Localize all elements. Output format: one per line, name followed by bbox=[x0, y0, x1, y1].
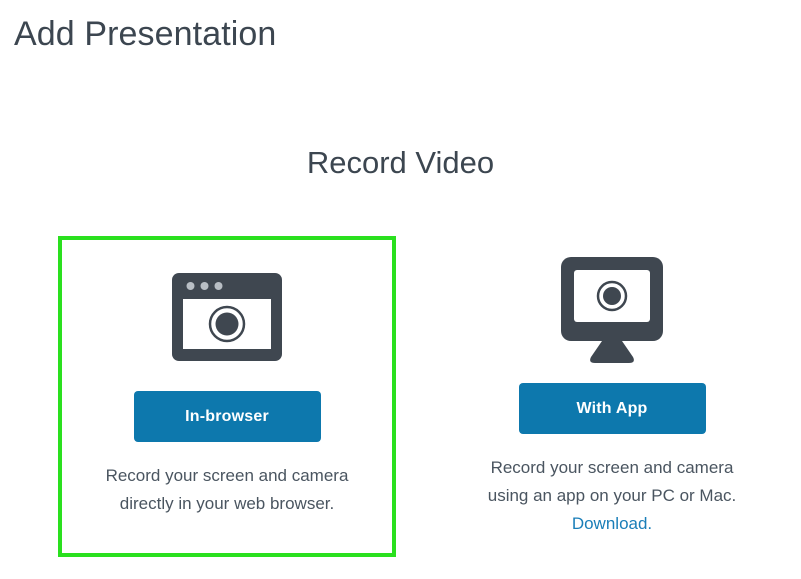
record-options-group: In-browser Record your screen and camera… bbox=[0, 236, 801, 566]
in-browser-button[interactable]: In-browser bbox=[134, 391, 321, 442]
desktop-monitor-record-icon bbox=[561, 257, 663, 363]
page-title: Add Presentation bbox=[14, 14, 276, 55]
with-app-caption: Record your screen and camera using an a… bbox=[487, 454, 737, 538]
in-browser-caption: Record your screen and camera directly i… bbox=[102, 462, 352, 518]
browser-window-record-icon bbox=[170, 267, 284, 367]
option-card-in-browser[interactable]: In-browser Record your screen and camera… bbox=[58, 236, 396, 557]
with-app-button[interactable]: With App bbox=[519, 383, 706, 434]
download-link[interactable]: Download. bbox=[572, 514, 652, 533]
with-app-caption-text: Record your screen and camera using an a… bbox=[488, 458, 737, 505]
section-heading-record-video: Record Video bbox=[0, 144, 801, 181]
option-card-with-app[interactable]: With App Record your screen and camera u… bbox=[443, 236, 781, 557]
